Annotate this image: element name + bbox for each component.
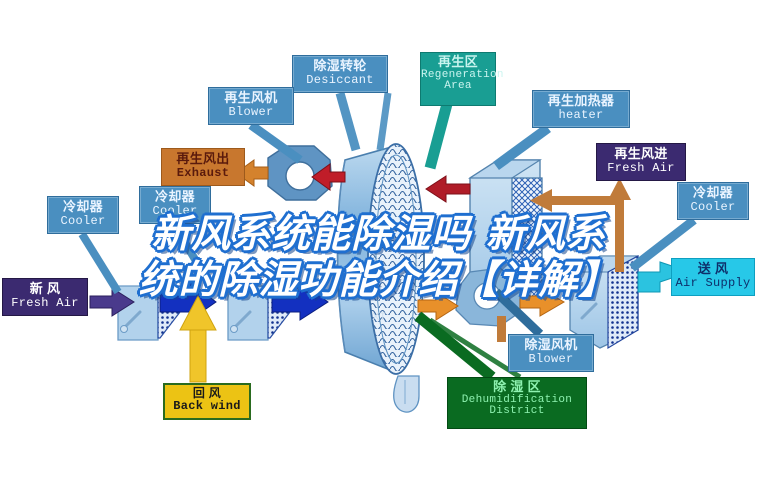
label-regeneration-area-en: Regeneration Area bbox=[421, 70, 495, 93]
label-cooler-left-b-en: Cooler bbox=[140, 205, 210, 218]
label-regeneration-blower[interactable]: 再生风机 Blower bbox=[208, 87, 294, 125]
label-fresh-air-inlet[interactable]: 新 风 Fresh Air bbox=[2, 278, 88, 316]
label-desiccant-rotor-en: Desiccant bbox=[293, 74, 387, 87]
label-regeneration-fresh-air[interactable]: 再生风进 Fresh Air bbox=[596, 143, 686, 181]
label-regeneration-heater[interactable]: 再生加热器 heater bbox=[532, 90, 630, 128]
label-regeneration-heater-en: heater bbox=[533, 109, 629, 122]
label-air-supply-en: Air Supply bbox=[672, 277, 754, 290]
label-regeneration-blower-cn: 再生风机 bbox=[209, 91, 293, 106]
label-air-supply[interactable]: 送 风 Air Supply bbox=[671, 258, 755, 296]
dehumidifying-blower-graphic bbox=[456, 268, 520, 326]
label-regeneration-area[interactable]: 再生区 Regeneration Area bbox=[420, 52, 496, 106]
label-dehumidifying-blower-en: Blower bbox=[509, 353, 593, 366]
label-desiccant-rotor[interactable]: 除湿转轮 Desiccant bbox=[292, 55, 388, 93]
arrow-regen-hot bbox=[426, 176, 470, 202]
label-back-wind[interactable]: 回 风 Back wind bbox=[163, 383, 251, 420]
diagram-canvas: XT bbox=[0, 0, 757, 488]
label-regeneration-fresh-air-en: Fresh Air bbox=[597, 162, 685, 175]
label-regeneration-exhaust-en: Exhaust bbox=[162, 167, 244, 180]
label-dehumidification-district-cn: 除 湿 区 bbox=[448, 380, 586, 395]
label-cooler-right[interactable]: 冷却器 Cooler bbox=[677, 182, 749, 220]
svg-text:XT: XT bbox=[372, 311, 386, 323]
label-regeneration-blower-en: Blower bbox=[209, 106, 293, 119]
label-cooler-right-cn: 冷却器 bbox=[678, 186, 748, 201]
label-dehumidifying-blower[interactable]: 除湿风机 Blower bbox=[508, 334, 594, 372]
label-dehumidification-district[interactable]: 除 湿 区 Dehumidification District bbox=[447, 377, 587, 429]
label-fresh-air-inlet-en: Fresh Air bbox=[3, 297, 87, 310]
label-regeneration-heater-cn: 再生加热器 bbox=[533, 94, 629, 109]
label-cooler-right-en: Cooler bbox=[678, 201, 748, 214]
label-cooler-left-a[interactable]: 冷却器 Cooler bbox=[47, 196, 119, 234]
arrow-regen-inlet bbox=[530, 178, 631, 272]
label-cooler-left-a-en: Cooler bbox=[48, 215, 118, 228]
label-cooler-left-b-cn: 冷却器 bbox=[140, 190, 210, 205]
desiccant-rotor-graphic: XT bbox=[338, 144, 425, 412]
arrow-heater-drain bbox=[497, 316, 506, 342]
label-back-wind-en: Back wind bbox=[165, 400, 249, 413]
label-cooler-left-b[interactable]: 冷却器 Cooler bbox=[139, 186, 211, 224]
label-desiccant-rotor-cn: 除湿转轮 bbox=[293, 59, 387, 74]
label-air-supply-cn: 送 风 bbox=[672, 262, 754, 277]
label-regeneration-area-cn: 再生区 bbox=[421, 55, 495, 70]
label-regeneration-exhaust[interactable]: 再生风出 Exhaust bbox=[161, 148, 245, 186]
label-regeneration-fresh-air-cn: 再生风进 bbox=[597, 147, 685, 162]
label-dehumidification-district-en: Dehumidification District bbox=[448, 395, 586, 418]
label-regeneration-exhaust-cn: 再生风出 bbox=[162, 152, 244, 167]
label-fresh-air-inlet-cn: 新 风 bbox=[3, 282, 87, 297]
label-cooler-left-a-cn: 冷却器 bbox=[48, 200, 118, 215]
label-back-wind-cn: 回 风 bbox=[165, 387, 249, 400]
label-dehumidifying-blower-cn: 除湿风机 bbox=[509, 338, 593, 353]
